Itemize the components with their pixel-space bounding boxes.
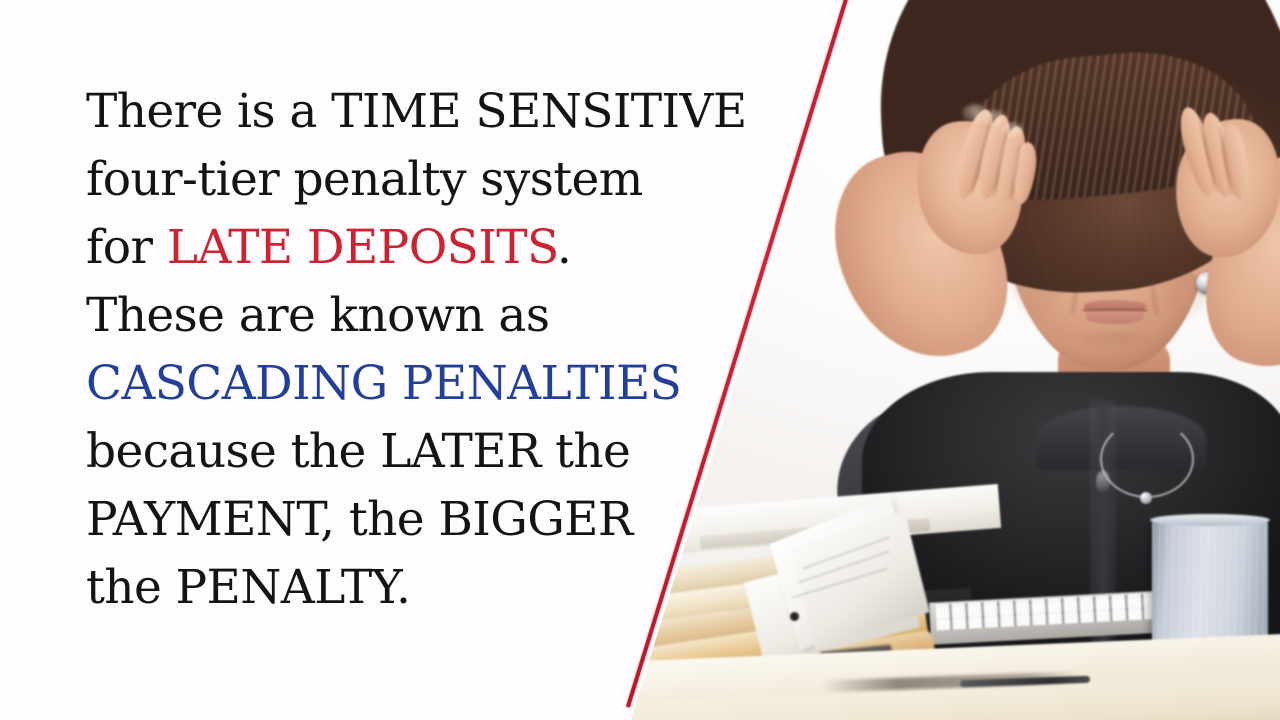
mug-rim — [1150, 514, 1270, 526]
caption-segment: for — [86, 220, 167, 275]
caption-line-5: CASCADING PENALTIES — [86, 350, 726, 418]
caption-segment: four-tier penalty system — [86, 152, 643, 207]
caption-line-7: PAYMENT, the BIGGER — [86, 486, 726, 554]
caption-text-block: There is a TIME SENSITIVE four-tier pena… — [86, 78, 726, 622]
lower-lip — [1086, 311, 1144, 324]
mug-texture — [1152, 520, 1268, 650]
necklace-pendant — [1140, 492, 1152, 504]
caption-line-1: There is a TIME SENSITIVE — [86, 78, 726, 146]
paperclip — [790, 612, 799, 621]
caption-segment-blue-emphasis: CASCADING PENALTIES — [86, 356, 681, 411]
caption-segment: PAYMENT, the BIGGER — [86, 492, 633, 547]
caption-segment: because the LATER the — [86, 424, 630, 479]
caption-line-3: for LATE DEPOSITS. — [86, 214, 726, 282]
caption-segment: . — [557, 220, 571, 275]
caption-line-8: the PENALTY. — [86, 554, 726, 622]
chin-shadow — [1082, 332, 1152, 348]
caption-segment: There is a TIME SENSITIVE — [86, 84, 747, 139]
caption-line-6: because the LATER the — [86, 418, 726, 486]
caption-segment: These are known as — [86, 288, 549, 343]
necklace — [1100, 420, 1194, 498]
caption-line-2: four-tier penalty system — [86, 146, 726, 214]
caption-line-4: These are known as — [86, 282, 726, 350]
caption-segment-red-emphasis: LATE DEPOSITS — [167, 220, 557, 275]
caption-segment: the PENALTY. — [86, 560, 410, 615]
slide-canvas: There is a TIME SENSITIVE four-tier pena… — [0, 0, 1280, 720]
